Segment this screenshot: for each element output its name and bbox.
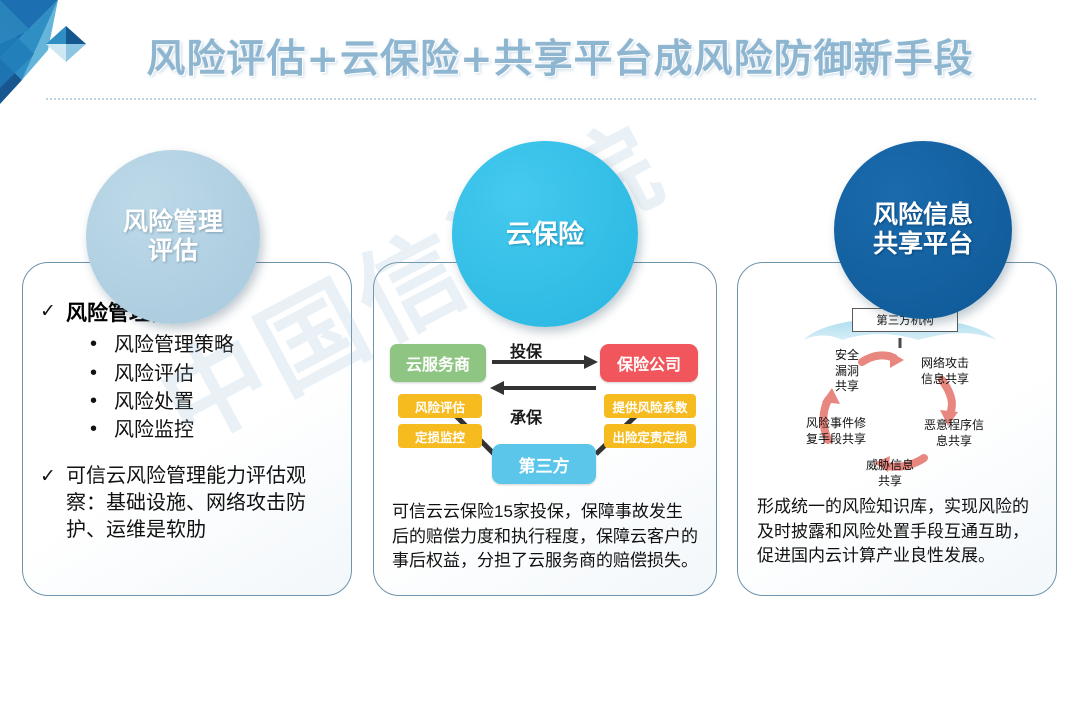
node-insurance-company: 保险公司 — [600, 344, 698, 382]
node-cloud-service-provider-label: 云服务商 — [406, 351, 470, 375]
list-item: 风险评估 — [86, 360, 340, 388]
list-item: 风险处置 — [86, 388, 340, 416]
risk-event-remediation-sharing-label: 风险事件修 复手段共享 — [790, 416, 882, 447]
circle-cloud-insurance-label: 云保险 — [506, 219, 584, 250]
list-item: 风险管理策略 — [86, 331, 340, 359]
check-icon: ✓ — [40, 300, 66, 324]
malware-info-sharing-label: 恶意程序信 息共享 — [914, 418, 994, 449]
node-cloud-service-provider: 云服务商 — [390, 344, 486, 382]
node-third-party-label: 第三方 — [519, 452, 570, 477]
loss-monitoring-tag: 定损监控 — [398, 424, 482, 448]
network-attack-info-sharing-label: 网络攻击 信息共享 — [902, 356, 988, 387]
left-panel-content: ✓ 风险管理体系 风险管理策略 风险评估 风险处置 风险监控 ✓ 可信云风险管理… — [40, 300, 340, 544]
risk-assessment-tag: 风险评估 — [398, 394, 482, 418]
underwrite-label: 承保 — [510, 404, 542, 428]
left-bullet-list: 风险管理策略 风险评估 风险处置 风险监控 — [86, 331, 340, 445]
node-third-party: 第三方 — [492, 444, 596, 484]
cloud-insurance-diagram: 云服务商 保险公司 第三方 风险评估 定损监控 提供风险系数 出险定责定损 投保… — [382, 332, 712, 492]
list-item: 风险监控 — [86, 416, 340, 444]
circle-cloud-insurance: 云保险 — [452, 141, 638, 327]
caict-diamond-logo-icon — [0, 0, 92, 104]
risk-coefficient-tag: 提供风险系数 — [604, 394, 696, 418]
risk-info-sharing-diagram: 第三方机构 安全 漏洞 共享 网络攻击 信息共享 恶意程序信 息共享 威胁信息 … — [790, 300, 1010, 490]
left-paragraph-text: 可信云风险管理能力评估观察：基础设施、网络攻击防护、运维是软肋 — [66, 463, 316, 545]
circle-risk-management: 风险管理 评估 — [86, 150, 260, 324]
circle-risk-info-sharing-label: 风险信息 共享平台 — [873, 201, 973, 260]
page-title: 风险评估+云保险+共享平台成风险防御新手段 — [110, 28, 1010, 84]
header-divider — [46, 98, 1036, 100]
security-vulnerability-sharing-label: 安全 漏洞 共享 — [818, 348, 876, 395]
middle-panel-note: 可信云云保险15家投保，保障事故发生后的赔偿力度和执行程度，保障云客户的事后权益… — [392, 500, 698, 574]
left-paragraph-row: ✓ 可信云风险管理能力评估观察：基础设施、网络攻击防护、运维是软肋 — [40, 463, 340, 545]
claim-assessment-tag: 出险定责定损 — [604, 424, 696, 448]
circle-risk-management-label: 风险管理 评估 — [123, 208, 223, 267]
right-panel-note: 形成统一的风险知识库，实现风险的及时披露和风险处置手段互通互助，促进国内云计算产… — [757, 495, 1045, 569]
node-insurance-company-label: 保险公司 — [617, 351, 681, 375]
threat-info-sharing-label: 威胁信息 共享 — [852, 458, 928, 489]
check-icon: ✓ — [40, 463, 66, 489]
apply-insurance-label: 投保 — [510, 338, 542, 362]
circle-risk-info-sharing: 风险信息 共享平台 — [834, 141, 1012, 319]
